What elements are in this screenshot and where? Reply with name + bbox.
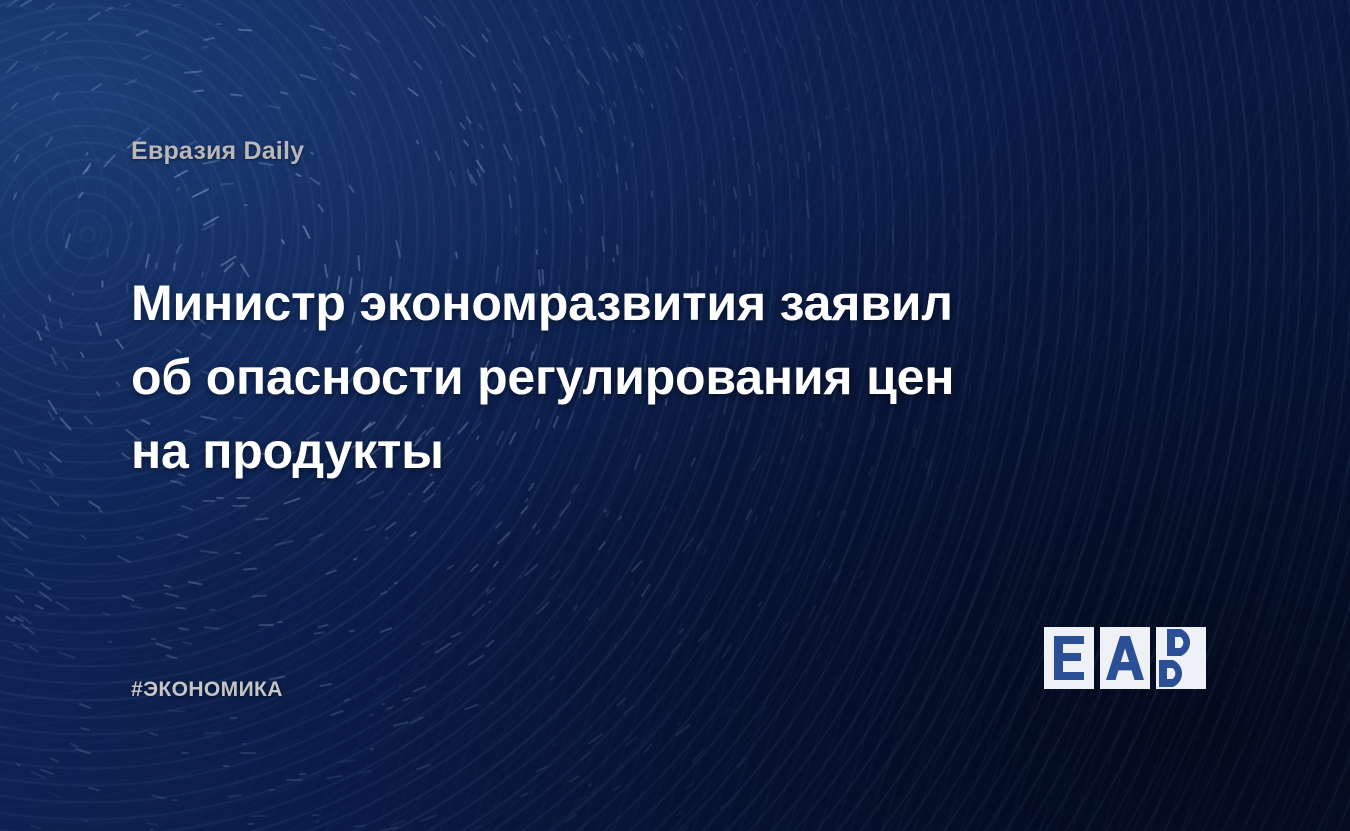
card-content: Евразия Daily Министр экономразвития зая… [0, 0, 1350, 831]
headline: Министр экономразвития заявил об опаснос… [131, 266, 1051, 488]
headline-line-3: на продукты [131, 414, 1051, 488]
news-card: Евразия Daily Министр экономразвития зая… [0, 0, 1350, 831]
headline-line-1: Министр экономразвития заявил [131, 266, 1051, 340]
logo-tile-a [1100, 627, 1150, 689]
logo-tile-d [1156, 627, 1206, 689]
headline-line-2: об опасности регулирования цен [131, 340, 1051, 414]
logo-tile-e [1044, 627, 1094, 689]
category-hashtag[interactable]: #ЭКОНОМИКА [131, 678, 283, 702]
letter-e-icon [1052, 636, 1086, 680]
letter-a-icon [1106, 636, 1144, 680]
brand-name: Евразия Daily [131, 137, 304, 166]
ead-logo [1044, 627, 1206, 689]
letter-d-split-icon [1151, 627, 1211, 689]
